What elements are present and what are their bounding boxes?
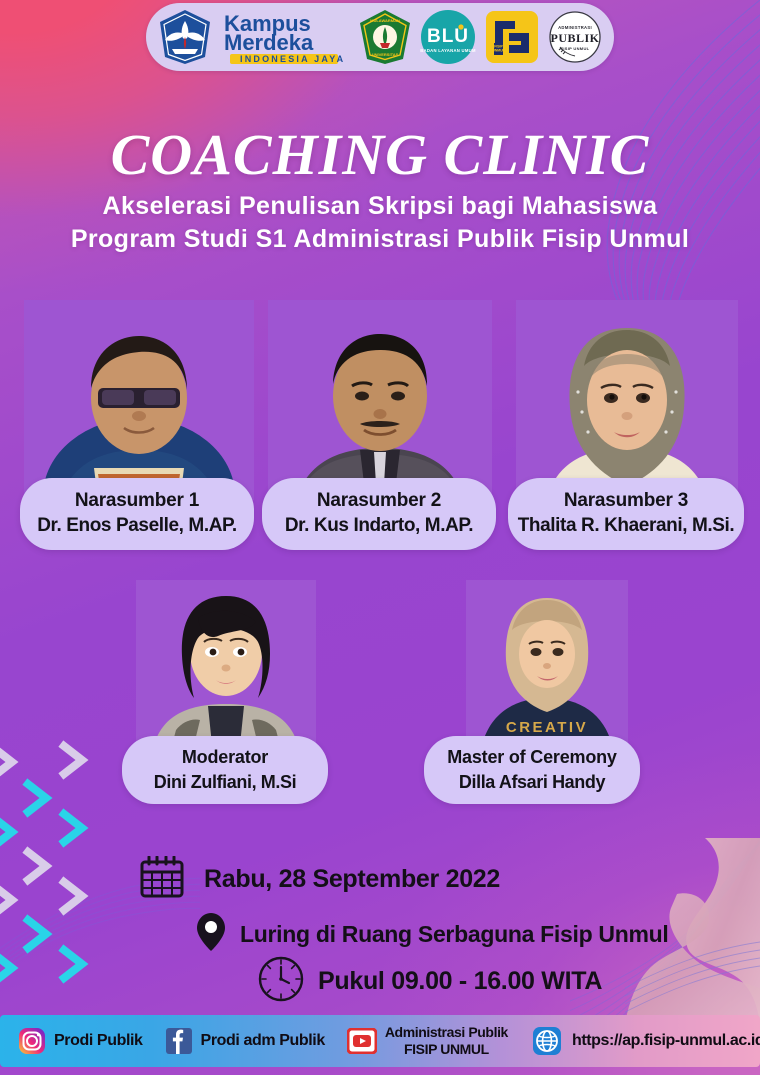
footer-bar: Prodi Publik Prodi adm Publik Administ [0,1015,760,1067]
chevron-icon [0,742,26,782]
svg-text:PUBLIK: PUBLIK [550,31,599,45]
moderator-name: Dini Zulfiani, M.Si [154,769,296,795]
fisip-unmul-logo: FISIP UNMUL [485,8,539,66]
detail-location: Luring di Ruang Serbaguna Fisip Unmul [196,912,668,957]
calendar-icon [140,856,184,903]
svg-text:CREATIV: CREATIV [506,719,588,736]
chevron-icon [0,880,26,920]
svg-text:Merdeka: Merdeka [224,30,314,55]
speaker-photo-2 [268,300,492,500]
subtitle-line-2: Program Studi S1 Administrasi Publik Fis… [0,223,760,256]
chevron-icon [20,914,60,954]
footer-youtube-line2: FISIP UNMUL [385,1041,508,1058]
tut-wuri-handayani-logo [158,8,212,66]
detail-time-text: Pukul 09.00 - 16.00 WITA [318,967,602,996]
chevron-icon [20,846,60,886]
clock-icon [258,956,304,1007]
blu-logo: BLU BADAN LAYANAN UMUM [420,8,476,66]
speaker-card-2: Narasumber 2 Dr. Kus Indarto, M.AP. [262,478,496,550]
page-title: COACHING CLINIC [0,124,760,186]
svg-text:ADMINISTRASI: ADMINISTRASI [558,25,592,30]
mc-card: Master of Ceremony Dilla Afsari Handy [424,736,640,804]
footer-instagram-label: Prodi Publik [54,1032,143,1050]
svg-text:UNMUL: UNMUL [493,49,505,53]
location-pin-icon [196,912,226,957]
speaker-name-2: Dr. Kus Indarto, M.AP. [285,513,473,539]
chevron-icon [56,876,96,916]
chevron-icon [0,948,26,988]
chevron-icon [56,944,96,984]
speaker-photo-1 [24,300,254,500]
universitas-mulawarman-logo: MULAWARMAN UNIVERSITAS [358,8,412,66]
speaker-card-1: Narasumber 1 Dr. Enos Paselle, M.AP. [20,478,254,550]
mc-role: Master of Ceremony [447,745,616,769]
speaker-name-1: Dr. Enos Paselle, M.AP. [37,513,237,539]
detail-time: Pukul 09.00 - 16.00 WITA [258,956,602,1007]
svg-text:INDONESIA JAYA: INDONESIA JAYA [240,54,345,64]
detail-date: Rabu, 28 September 2022 [140,856,500,903]
chevron-icon [20,778,60,818]
chevron-icon [56,740,96,780]
page-subtitle: Akselerasi Penulisan Skripsi bagi Mahasi… [0,190,760,256]
footer-website[interactable]: https://ap.fisip-unmul.ac.id/ [532,1026,760,1056]
moderator-role: Moderator [182,745,268,769]
detail-date-text: Rabu, 28 September 2022 [204,865,500,894]
footer-youtube-line1: Administrasi Publik [385,1024,508,1041]
speaker-role-3: Narasumber 3 [564,489,688,513]
sponsor-logo-bar: Kampus Merdeka INDONESIA JAYA MULAWARMAN… [146,3,614,71]
chevron-icon [0,812,26,852]
svg-text:BLU: BLU [427,26,469,47]
footer-website-label: https://ap.fisip-unmul.ac.id/ [572,1032,760,1050]
mc-photo: CREATIV [466,580,628,745]
globe-icon [532,1026,562,1056]
administrasi-publik-logo: ADMINISTRASI PUBLIK FISIP UNMUL [548,8,602,66]
detail-location-text: Luring di Ruang Serbaguna Fisip Unmul [240,921,668,948]
speaker-name-3: Thalita R. Khaerani, M.Si. [518,513,735,539]
svg-text:BADAN LAYANAN UMUM: BADAN LAYANAN UMUM [421,48,477,53]
svg-text:MULAWARMAN: MULAWARMAN [370,18,400,23]
speaker-role-2: Narasumber 2 [317,489,441,513]
speaker-role-1: Narasumber 1 [75,489,199,513]
moderator-card: Moderator Dini Zulfiani, M.Si [122,736,328,804]
instagram-icon [18,1027,46,1055]
footer-facebook-label: Prodi adm Publik [201,1032,325,1050]
subtitle-line-1: Akselerasi Penulisan Skripsi bagi Mahasi… [0,190,760,223]
poster-canvas: Kampus Merdeka INDONESIA JAYA MULAWARMAN… [0,0,760,1075]
footer-youtube-label: Administrasi Publik FISIP UNMUL [385,1024,508,1058]
svg-text:UNIVERSITAS: UNIVERSITAS [371,52,398,57]
speaker-card-3: Narasumber 3 Thalita R. Khaerani, M.Si. [508,478,744,550]
moderator-photo [136,580,316,745]
footer-youtube[interactable]: Administrasi Publik FISIP UNMUL [347,1024,508,1058]
footer-facebook[interactable]: Prodi adm Publik [165,1027,325,1055]
facebook-icon [165,1027,193,1055]
youtube-icon [347,1028,377,1054]
svg-text:FISIP UNMUL: FISIP UNMUL [561,46,590,51]
speaker-photo-3 [516,300,738,500]
footer-instagram[interactable]: Prodi Publik [18,1027,143,1055]
kampus-merdeka-logo: Kampus Merdeka INDONESIA JAYA [221,8,349,66]
mc-name: Dilla Afsari Handy [459,769,605,795]
chevron-icon [56,808,96,848]
